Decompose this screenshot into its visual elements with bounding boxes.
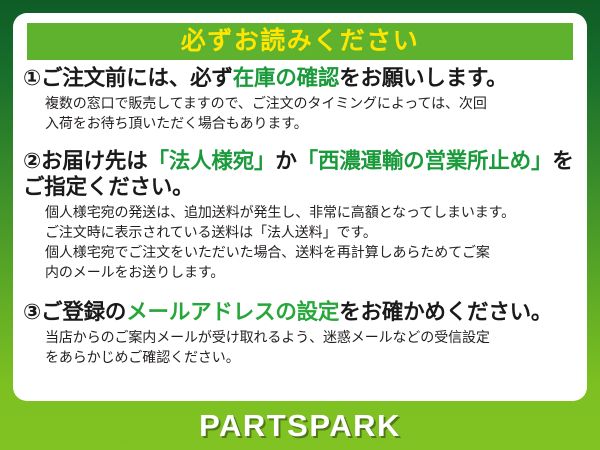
notice-item-2-head-mid: か	[275, 149, 296, 173]
notice-item-1-heading: ①ご注文前には、必ず在庫の確認をお願いします。	[23, 65, 579, 91]
notice-card: 必ずお読みください ①ご注文前には、必ず在庫の確認をお願いします。 複数の窓口で…	[13, 13, 587, 401]
notice-item-1-marker: ①	[23, 66, 41, 90]
footer-logo-area: PARTSPARK	[0, 401, 600, 450]
notice-item-3-marker: ③	[23, 300, 41, 324]
page-title: 必ずお読みください	[181, 29, 420, 54]
notice-item-1-detail: 複数の窓口で販売してますので、ご注文のタイミングによっては、次回 入荷をお待ち頂…	[23, 94, 579, 134]
notice-title-bar: 必ずお読みください	[27, 23, 573, 60]
notice-item-1-head-pre: ご注文前には、必ず	[41, 66, 233, 90]
notice-item-1-head-post: をお願いします。	[339, 66, 507, 90]
notice-list: ①ご注文前には、必ず在庫の確認をお願いします。 複数の窓口で販売してますので、ご…	[13, 65, 587, 368]
notice-item-3-head-pre: ご登録の	[41, 300, 126, 324]
promo-banner: 必ずお読みください ①ご注文前には、必ず在庫の確認をお願いします。 複数の窓口で…	[0, 0, 600, 450]
notice-item-3: ③ご登録のメールアドレスの設定をお確かめください。 当店からのご案内メールが受け…	[13, 299, 587, 368]
notice-item-2-highlight-1: 「法人様宛」	[148, 149, 276, 173]
notice-item-2-head-pre: お届け先は	[41, 149, 148, 173]
brand-logo: PARTSPARK	[199, 410, 401, 441]
notice-item-1: ①ご注文前には、必ず在庫の確認をお願いします。 複数の窓口で販売してますので、ご…	[13, 65, 587, 134]
notice-item-3-heading: ③ご登録のメールアドレスの設定をお確かめください。	[23, 299, 579, 325]
notice-item-3-head-post: をお確かめください。	[339, 300, 552, 324]
notice-item-2-heading: ②お届け先は「法人様宛」か「西濃運輸の営業所止め」をご指定ください。	[23, 148, 579, 200]
notice-item-2: ②お届け先は「法人様宛」か「西濃運輸の営業所止め」をご指定ください。 個人様宅宛…	[13, 148, 587, 283]
notice-item-2-marker: ②	[23, 149, 41, 173]
notice-item-2-detail: 個人様宅宛の発送は、追加送料が発生し、非常に高額となってしまいます。 ご注文時に…	[23, 203, 579, 283]
notice-item-3-detail: 当店からのご案内メールが受け取れるよう、迷惑メールなどの受信設定 をあらかじめご…	[23, 328, 579, 368]
notice-item-1-highlight: 在庫の確認	[233, 66, 340, 90]
notice-item-2-highlight-2: 「西濃運輸の営業所止め」	[297, 149, 553, 173]
notice-item-3-highlight: メールアドレスの設定	[126, 300, 339, 324]
